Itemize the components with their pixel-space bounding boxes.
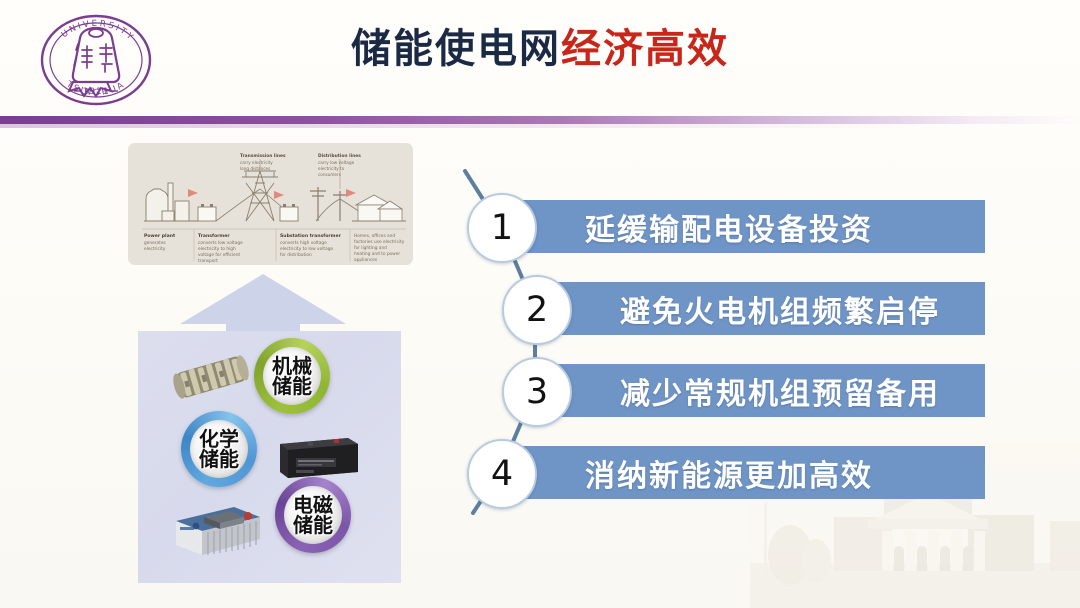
svg-text:transport: transport bbox=[198, 258, 218, 264]
benefit-label-1: 延缓输配电设备投资 bbox=[500, 205, 873, 249]
grid-label-distribution-title: Distribution lines bbox=[318, 153, 361, 159]
mechanical-storage-badge: 机械 储能 bbox=[254, 338, 330, 414]
svg-text:converts low voltage: converts low voltage bbox=[198, 240, 243, 246]
svg-text:converts high voltage: converts high voltage bbox=[280, 240, 327, 246]
grid-label-transformer-title: Transformer bbox=[198, 233, 230, 239]
benefit-label-4: 消纳新能源更加高效 bbox=[500, 451, 873, 495]
svg-text:for lighting and: for lighting and bbox=[354, 245, 387, 251]
svg-text:factories use electricity: factories use electricity bbox=[354, 239, 405, 245]
chemical-badge-line2: 储能 bbox=[199, 449, 239, 469]
grid-label-powerplant-title: Power plant bbox=[144, 233, 176, 239]
benefit-label-3: 减少常规机组预留备用 bbox=[535, 369, 940, 413]
mechanical-badge-line1: 机械 bbox=[272, 356, 312, 376]
page-title-red: 经济高效 bbox=[561, 26, 729, 72]
svg-text:voltage for efficient: voltage for efficient bbox=[198, 252, 240, 258]
power-grid-diagram: Transmission lines carry electricity lon… bbox=[128, 143, 413, 265]
svg-text:long distances: long distances bbox=[240, 166, 270, 171]
benefit-bar-1[interactable]: 延缓输配电设备投资 bbox=[500, 200, 985, 253]
grid-label-substation-title: Substation transformer bbox=[280, 233, 342, 239]
svg-text:appliances: appliances bbox=[354, 257, 378, 263]
benefits-list: 延缓输配电设备投资 避免火电机组频繁启停 减少常规机组预留备用 消纳新能源更加高… bbox=[455, 165, 1015, 535]
benefit-label-2: 避免火电机组频繁启停 bbox=[535, 287, 940, 331]
benefit-number-circle-2[interactable]: 2 bbox=[502, 275, 572, 345]
slide-root: 1911 UNIVERSITY TSINGHUA 储能使电网经济高效 bbox=[0, 0, 1080, 608]
page-title: 储能使电网经济高效 bbox=[0, 24, 1080, 74]
benefit-bar-4[interactable]: 消纳新能源更加高效 bbox=[500, 446, 985, 499]
lead-acid-battery-photo bbox=[272, 430, 360, 480]
chemical-storage-badge: 化学 储能 bbox=[181, 411, 257, 487]
mechanical-badge-line2: 储能 bbox=[272, 376, 312, 396]
flywheel-machine-photo bbox=[168, 348, 254, 406]
svg-text:electricity to: electricity to bbox=[318, 166, 345, 171]
svg-text:generates: generates bbox=[144, 240, 166, 246]
svg-text:heating and to power: heating and to power bbox=[354, 251, 400, 257]
svg-text:carry electricity: carry electricity bbox=[240, 160, 273, 165]
benefit-number-circle-1[interactable]: 1 bbox=[467, 193, 537, 263]
header-divider bbox=[0, 116, 1080, 124]
svg-text:carry low voltage: carry low voltage bbox=[318, 160, 355, 165]
benefit-number-circle-4[interactable]: 4 bbox=[467, 439, 537, 509]
benefit-bar-3[interactable]: 减少常规机组预留备用 bbox=[535, 364, 985, 417]
svg-text:electricity to low voltage: electricity to low voltage bbox=[280, 246, 333, 252]
svg-text:electricity to high: electricity to high bbox=[198, 246, 236, 252]
power-grid-svg: Transmission lines carry electricity lon… bbox=[128, 143, 413, 265]
grid-label-consumers: Homes, offices and bbox=[354, 233, 395, 239]
header-divider-shadow bbox=[0, 124, 1080, 128]
chemical-badge-line1: 化学 bbox=[199, 429, 239, 449]
svg-text:for distribution: for distribution bbox=[280, 252, 312, 258]
electromagnetic-storage-badge: 电磁 储能 bbox=[275, 477, 351, 553]
electromagnetic-badge-line1: 电磁 bbox=[293, 495, 333, 515]
page-title-dark: 储能使电网 bbox=[351, 26, 561, 72]
electromagnetic-badge-line2: 储能 bbox=[293, 515, 333, 535]
svg-text:electricity: electricity bbox=[144, 246, 166, 252]
battery-pack-photo bbox=[168, 495, 264, 559]
benefit-number-circle-3[interactable]: 3 bbox=[502, 357, 572, 427]
benefit-bar-2[interactable]: 避免火电机组频繁启停 bbox=[535, 282, 985, 335]
grid-label-transmission-title: Transmission lines bbox=[240, 153, 286, 159]
svg-text:consumers: consumers bbox=[318, 172, 341, 177]
